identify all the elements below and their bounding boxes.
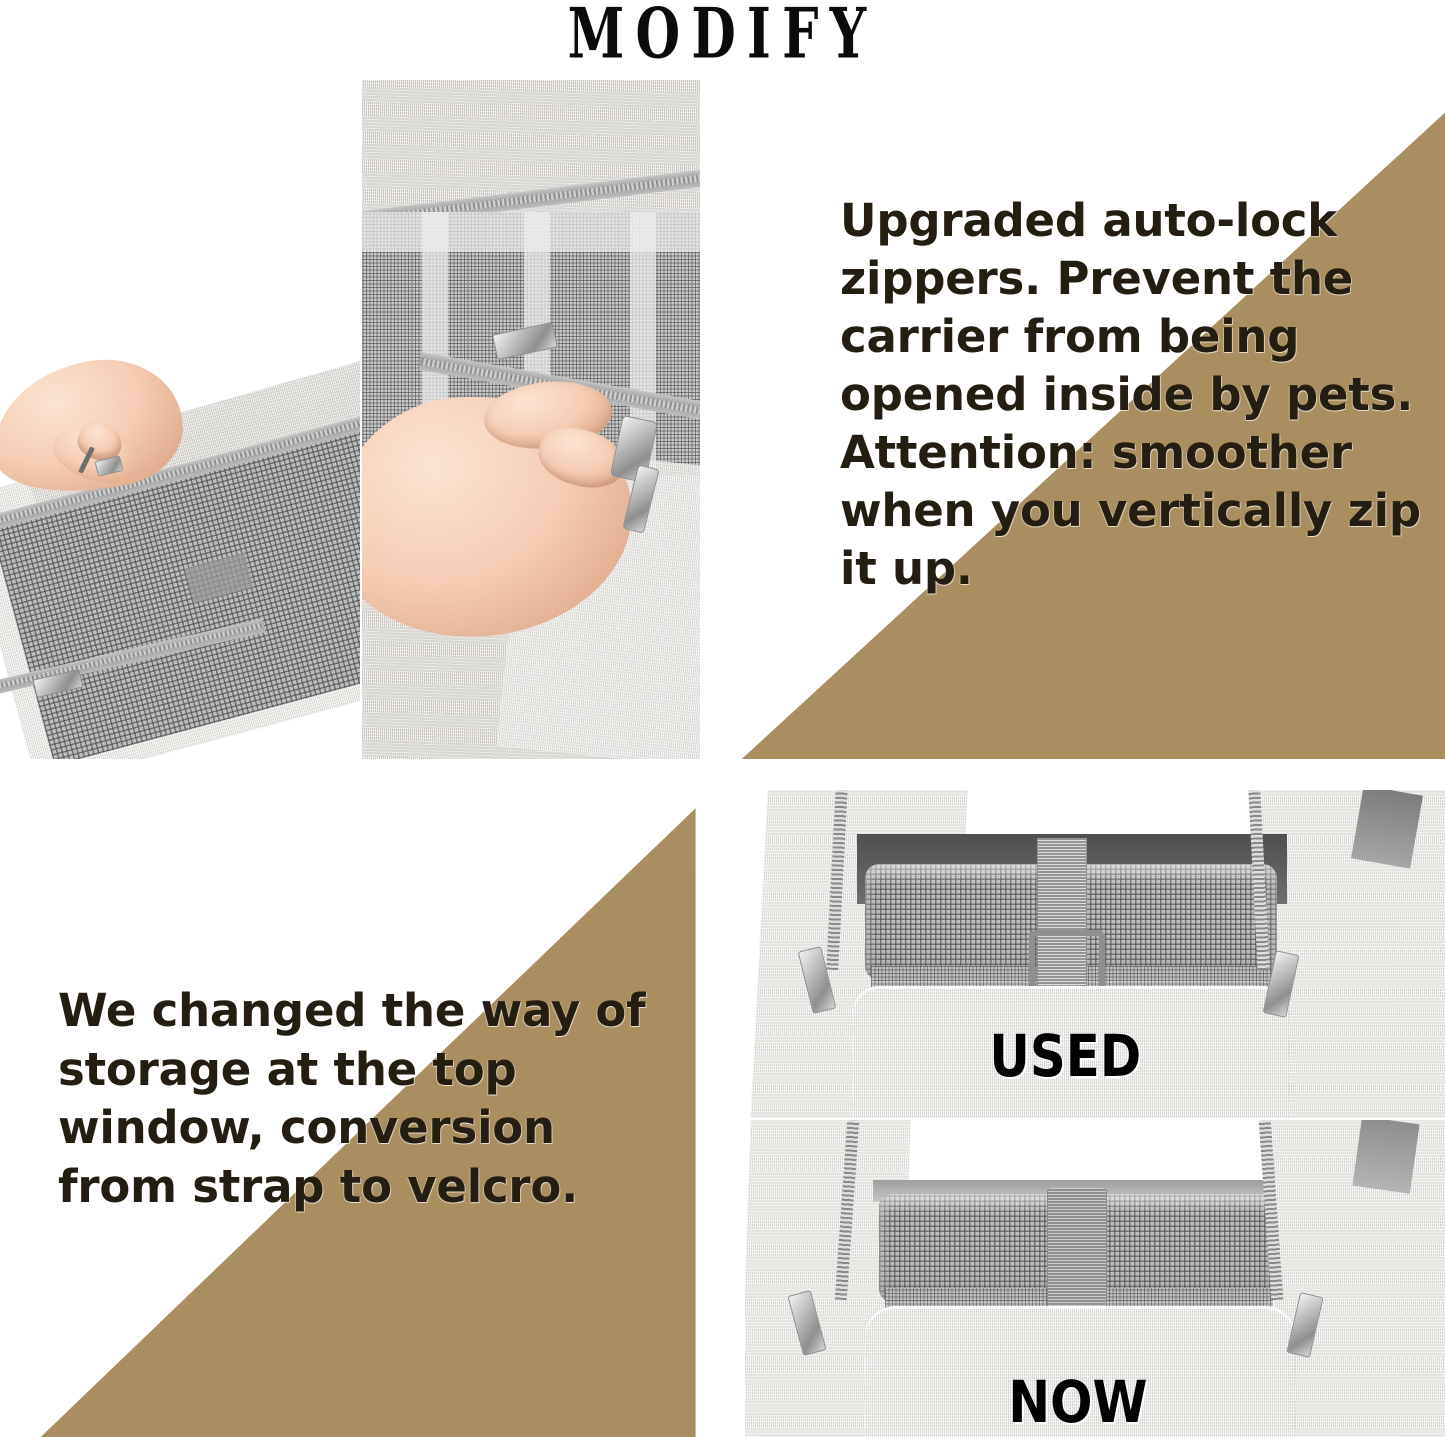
used-strap-buckle [1029,930,1105,992]
now-velcro-tab [1047,1188,1107,1312]
zipper-copy-panel: Upgraded auto-lock zippers. Prevent the … [700,80,1445,759]
zipper-copy-text: Upgraded auto-lock zippers. Prevent the … [840,192,1430,598]
zipper-photo-panel [0,80,740,759]
used-shoulder-strap [1351,790,1423,869]
before-badge-label: USED [989,1022,1141,1090]
now-shoulder-strap [1352,1120,1419,1194]
zipper-photo-right [362,80,740,759]
marketing-image-root: MODIFY [0,0,1445,1437]
after-badge-label: NOW [1008,1368,1147,1436]
after-photo-panel: NOW [745,1120,1445,1437]
zipper-photo-left [0,262,360,759]
mesh-top-band [362,212,740,252]
page-title: MODIFY [145,0,1301,77]
storage-copy-panel: We changed the way of storage at the top… [0,782,740,1437]
before-photo-panel: USED [745,790,1445,1118]
storage-copy-text: We changed the way of storage at the top… [58,982,658,1216]
